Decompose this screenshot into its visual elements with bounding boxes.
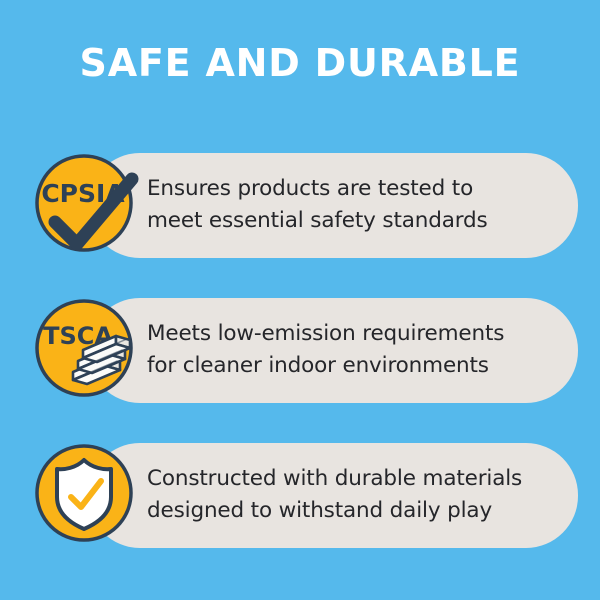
shield-check-icon xyxy=(57,460,111,529)
feature-row-durability: Constructed with durable materials desig… xyxy=(0,443,600,548)
feature-list: Ensures products are tested to meet esse… xyxy=(0,153,600,588)
feature-text: Meets low-emission requirements for clea… xyxy=(147,298,567,403)
page-title: SAFE AND DURABLE xyxy=(0,44,600,82)
durability-badge xyxy=(28,437,146,555)
feature-text-line-2: for cleaner indoor environments xyxy=(147,351,567,382)
feature-text: Constructed with durable materials desig… xyxy=(147,443,567,548)
feature-text-line-1: Ensures products are tested to xyxy=(147,174,567,205)
feature-text: Ensures products are tested to meet esse… xyxy=(147,153,567,258)
feature-text-line-2: meet essential safety standards xyxy=(147,206,567,237)
safe-and-durable-poster: SAFE AND DURABLE Ensures products are te… xyxy=(0,0,600,600)
feature-text-line-1: Constructed with durable materials xyxy=(147,464,567,495)
tsca-badge: TSCA xyxy=(28,292,146,410)
feature-text-line-1: Meets low-emission requirements xyxy=(147,319,567,350)
feature-row-tsca: Meets low-emission requirements for clea… xyxy=(0,298,600,403)
cpsia-badge: CPSIA xyxy=(28,147,146,265)
feature-row-cpsia: Ensures products are tested to meet esse… xyxy=(0,153,600,258)
feature-text-line-2: designed to withstand daily play xyxy=(147,496,567,527)
